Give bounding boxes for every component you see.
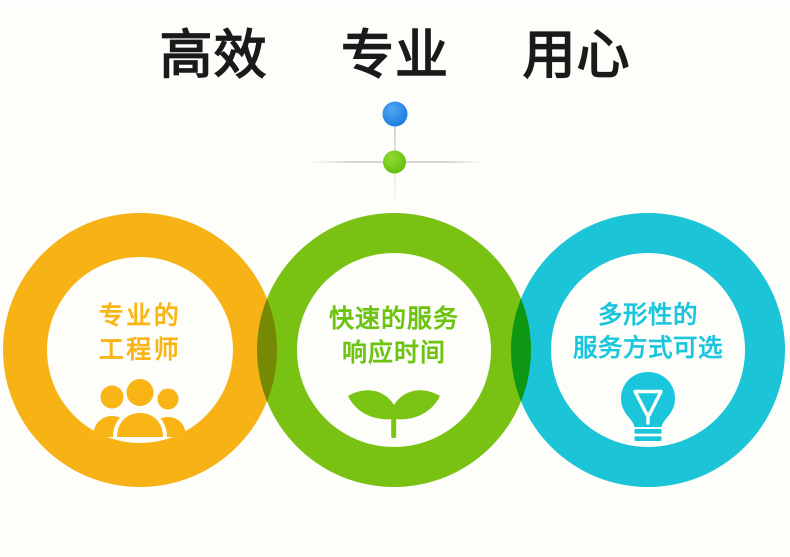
venn-rings-group [0,0,790,557]
ring-hole-engineers [47,257,233,443]
infographic-canvas: 高效 专业 用心 [0,0,790,557]
ring-hole-service-options [551,253,745,447]
ring-hole-response-time [297,253,491,447]
